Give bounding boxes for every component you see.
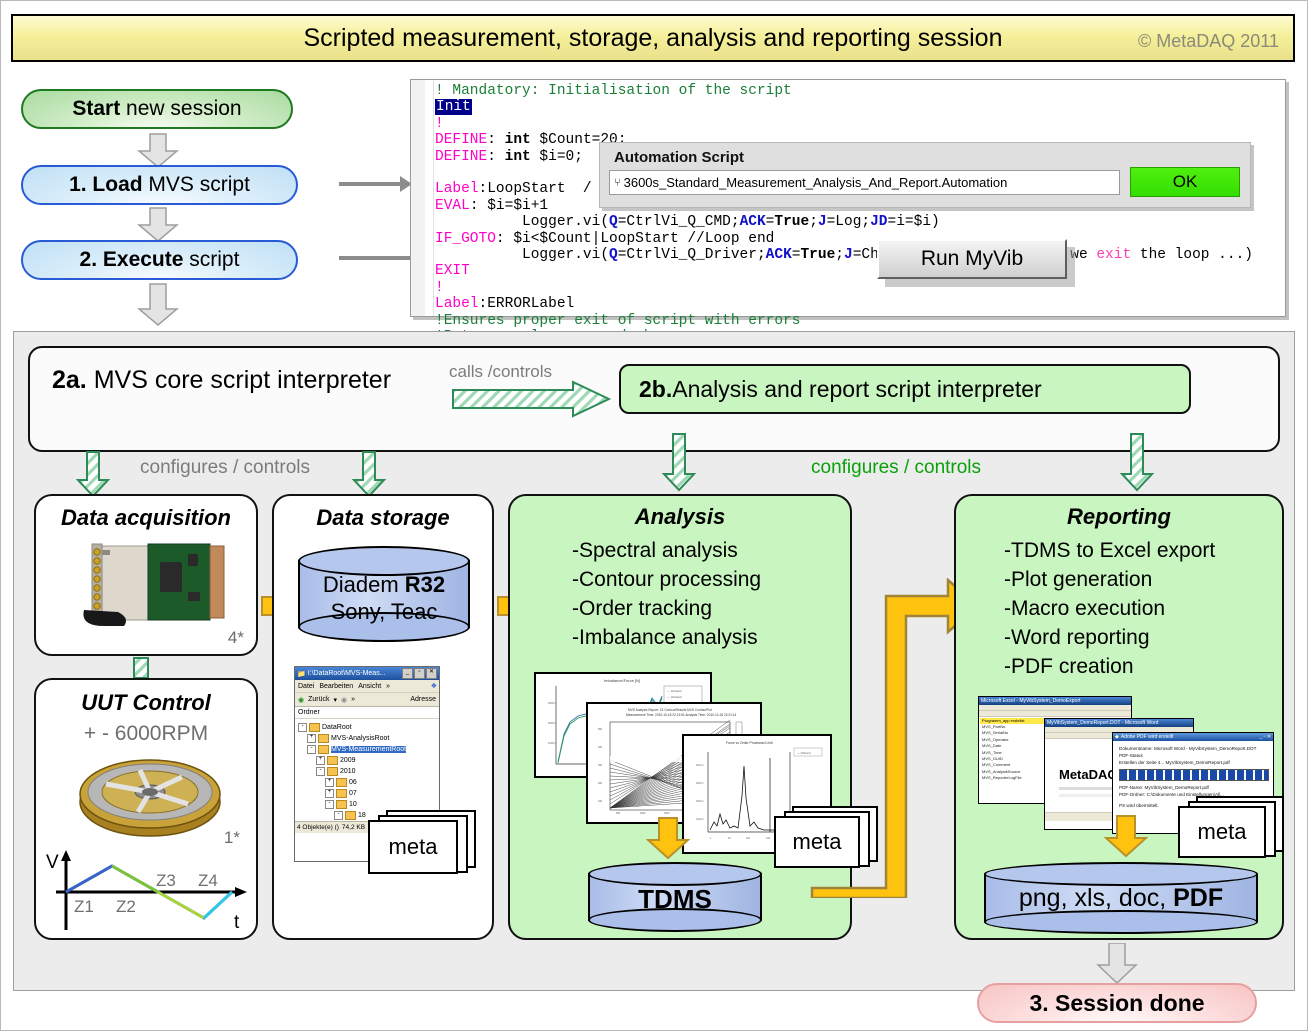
menu-ansicht[interactable]: Ansicht	[358, 683, 381, 690]
svg-text:Measurement Time: 2010-10-18 2: Measurement Time: 2010-10-18 22:13:51 An…	[626, 713, 737, 717]
svg-text:2000,0: 2000,0	[696, 800, 704, 803]
menu-overflow[interactable]: »	[386, 683, 390, 690]
tree-item-label: 10	[349, 801, 357, 808]
excel-title-text: Microsoft Excel - MyVibSystem_DemoExport	[981, 698, 1080, 704]
folder-icon	[318, 745, 329, 754]
folder-icon	[336, 800, 347, 809]
svg-text:Z3: Z3	[156, 871, 176, 890]
tdms-cylinder: TDMS	[588, 862, 762, 934]
tree-item-label: 18	[358, 812, 366, 819]
toolbar-overflow[interactable]: »	[351, 696, 355, 703]
tree-item[interactable]: +07	[298, 788, 439, 799]
explorer-titlebar: 📁 I:\DataRoot\MVS-Meas... _ ▫ ✕	[295, 667, 439, 680]
folder-icon	[336, 778, 347, 787]
storage-cylinder: Diadem R32 Sony, Teac	[298, 546, 470, 644]
svg-text:150: 150	[766, 837, 771, 840]
dialog-ok-button[interactable]: OK	[1130, 167, 1240, 197]
svg-text:100: 100	[598, 800, 603, 803]
uut-control-card[interactable]: UUT Control + - 6000RPM 1*	[34, 678, 258, 940]
meta-page-front: meta	[1178, 806, 1266, 858]
maximize-icon[interactable]: ▫	[414, 668, 425, 679]
calls-controls-label: calls /controls	[449, 362, 552, 382]
arrow-step1-to-step2	[137, 207, 179, 243]
automation-script-input[interactable]: ⑂ 3600s_Standard_Measurement_Analysis_An…	[609, 170, 1120, 195]
arrow-analysis-to-tdms	[646, 816, 690, 865]
daq-board-image	[78, 540, 228, 633]
arrow-calls-controls	[451, 380, 611, 423]
flow-step1-node[interactable]: 1. Load MVS script	[21, 165, 298, 205]
collapse-icon[interactable]: -	[316, 767, 325, 776]
core-interpreter-text: MVS core script interpreter	[87, 366, 391, 394]
folder-icon	[336, 789, 347, 798]
svg-text:200: 200	[598, 782, 603, 785]
svg-text:1500: 1500	[664, 812, 670, 815]
reporting-bullet-2: -Macro execution	[1004, 594, 1215, 623]
pdf-title-text: Adobe PDF wird erstellt	[1121, 734, 1174, 740]
analysis-interpreter-num: 2b.	[639, 376, 672, 403]
tree-item-label: 2009	[340, 757, 356, 764]
output-formats-label: png, xls, doc, PDF	[984, 884, 1258, 913]
windows-flag-icon: ❖	[431, 682, 437, 690]
flow-start-bold: Start	[72, 97, 120, 120]
word-titlebar: MyVibSystem_DemoReport.DOT - Microsoft W…	[1045, 719, 1193, 727]
menu-datei[interactable]: Datei	[298, 683, 314, 690]
tree-item[interactable]: -MVS-MeasurementRoot	[298, 744, 439, 755]
tree-item-label: DataRoot	[322, 724, 352, 731]
expand-icon[interactable]: +	[325, 778, 334, 787]
analysis-bullet-1: -Contour processing	[572, 565, 761, 594]
expand-icon[interactable]: +	[325, 789, 334, 798]
flow-step1-rest: MVS script	[143, 173, 250, 196]
svg-text:500: 500	[616, 812, 621, 815]
tree-item[interactable]: -2010	[298, 766, 439, 777]
arrow-tdms-to-reporting	[800, 578, 980, 903]
folder-icon	[318, 734, 329, 743]
tree-item-label: 07	[349, 790, 357, 797]
svg-text:300: 300	[598, 764, 603, 767]
back-icon[interactable]: ◉	[298, 696, 304, 704]
explorer-folder-icon: 📁	[297, 670, 306, 678]
flow-step2-bold: 2. Execute	[80, 248, 184, 271]
svg-text:1000,0: 1000,0	[696, 818, 704, 821]
svg-text:MVS Analysis Report: Z1 Contou: MVS Analysis Report: Z1 ContourResults M…	[628, 708, 712, 712]
pdf-window-buttons: _ ▫ ✕	[1259, 734, 1273, 740]
explorer-menubar[interactable]: Datei Bearbeiten Ansicht » ❖	[295, 680, 439, 693]
collapse-icon[interactable]: -	[325, 800, 334, 809]
pdf-titlebar: ◆ Adobe PDF wird erstellt _ ▫ ✕	[1113, 733, 1273, 741]
connector-step1-line	[339, 182, 401, 186]
word-title-text: MyVibSystem_DemoReport.DOT - Microsoft W…	[1047, 720, 1158, 726]
svg-text:3000,0: 3000,0	[548, 701, 556, 705]
forward-icon[interactable]: ◉	[341, 696, 347, 704]
toolbar-back-label[interactable]: Zurück	[308, 696, 329, 703]
explorer-pane-header: Ordner	[295, 707, 439, 719]
svg-text:V: V	[46, 852, 59, 873]
tree-item[interactable]: -DataRoot	[298, 722, 439, 733]
data-acquisition-card[interactable]: Data acquisition 4*	[34, 494, 258, 656]
minimize-icon[interactable]: _	[402, 668, 413, 679]
configures-controls-left-label: configures / controls	[140, 457, 310, 479]
analysis-interpreter-card[interactable]: 2b. Analysis and report script interpret…	[619, 364, 1191, 414]
svg-text:t: t	[234, 912, 240, 933]
tdms-label: TDMS	[588, 884, 762, 915]
storage-meta-stack: meta	[368, 810, 476, 872]
title-banner: Scripted measurement, storage, analysis …	[11, 14, 1295, 62]
tree-item-label: 2010	[340, 768, 356, 775]
tree-item-label: MVS-MeasurementRoot	[331, 746, 406, 753]
svg-text:500: 500	[598, 728, 603, 731]
storage-db-line1: Diadem R32	[298, 572, 470, 598]
reporting-bullets: -TDMS to Excel export -Plot generation -…	[1004, 536, 1215, 681]
pdf-progress-bar	[1119, 769, 1269, 781]
automation-script-value: 3600s_Standard_Measurement_Analysis_And_…	[624, 175, 1008, 190]
collapse-icon[interactable]: -	[307, 745, 316, 754]
analysis-bullet-3: -Imbalance analysis	[572, 623, 761, 652]
svg-text:2000,0: 2000,0	[548, 721, 556, 725]
arrow-config-reporting	[1120, 432, 1154, 497]
arrow-to-session-done	[1096, 943, 1138, 985]
storage-db-name: Diadem	[323, 572, 405, 597]
tree-item[interactable]: -10	[298, 799, 439, 810]
reporting-card[interactable]: Reporting -TDMS to Excel export -Plot ge…	[954, 494, 1284, 940]
uut-vt-chart: V t Z1 Z2 Z3 Z4	[42, 848, 254, 941]
storage-db-version: R32	[405, 572, 445, 597]
arrow-config-analysis	[662, 432, 696, 497]
svg-text:Force vs Order Processed Unit: Force vs Order Processed Unit	[726, 741, 773, 745]
word-heading: MetaDAQ	[1059, 767, 1118, 782]
status-size: 74,2 KB	[342, 824, 365, 831]
reporting-bullet-4: -PDF creation	[1004, 652, 1215, 681]
tdms-cylinder-top	[588, 862, 762, 886]
run-myvib-button[interactable]: Run MyVib	[877, 239, 1067, 279]
uut-rpm-label: + - 6000RPM	[36, 722, 256, 746]
analysis-title: Analysis	[510, 504, 850, 530]
collapse-icon[interactable]: -	[334, 811, 343, 820]
data-storage-card[interactable]: Data storage Diadem R32 Sony, Teac 📁 I:\…	[272, 494, 494, 940]
folder-icon	[345, 811, 356, 820]
output-cylinder-top	[984, 862, 1258, 886]
analysis-bullet-0: -Spectral analysis	[572, 536, 761, 565]
analysis-interpreter-text: Analysis and report script interpreter	[672, 376, 1041, 403]
uut-control-title: UUT Control	[36, 690, 256, 716]
svg-text:Z1: Z1	[74, 897, 94, 916]
core-interpreter-label: 2a. MVS core script interpreter	[52, 366, 391, 395]
flow-step2-rest: script	[183, 248, 239, 271]
svg-text:Imbalance/Force [N]: Imbalance/Force [N]	[604, 678, 640, 683]
svg-text:Z2: Z2	[116, 897, 136, 916]
folder-icon	[309, 723, 320, 732]
svg-text:Z4: Z4	[198, 871, 218, 890]
explorer-folder-tree[interactable]: -DataRoot+MVS-AnalysisRoot-MVS-Measureme…	[295, 719, 439, 821]
expand-icon[interactable]: +	[307, 734, 316, 743]
flow-session-done-node[interactable]: 3. Session done	[977, 983, 1257, 1023]
script-file-icon: ⑂	[614, 177, 621, 189]
flow-step2-node[interactable]: 2. Execute script	[21, 240, 298, 280]
tree-item[interactable]: +06	[298, 777, 439, 788]
session-done-label: 3. Session done	[1029, 990, 1204, 1017]
tree-item-label: MVS-AnalysisRoot	[331, 735, 389, 742]
address-label[interactable]: Adresse	[410, 696, 436, 703]
output-cylinder-bottom	[984, 910, 1258, 934]
pdf-row-2: Erstellen der Seite 4... MyVibSystem_Dem…	[1119, 759, 1269, 766]
tree-item[interactable]: +MVS-AnalysisRoot	[298, 733, 439, 744]
automation-script-dialog[interactable]: Automation Script ⑂ 3600s_Standard_Measu…	[599, 142, 1251, 208]
analysis-bullets: -Spectral analysis -Contour processing -…	[572, 536, 761, 652]
explorer-window-buttons[interactable]: _ ▫ ✕	[402, 668, 439, 679]
back-dropdown-icon[interactable]: ▾	[334, 696, 338, 704]
reporting-meta-stack: meta	[1178, 796, 1282, 858]
svg-text:3000,0: 3000,0	[696, 782, 704, 785]
flow-start-node[interactable]: Start new session	[21, 89, 293, 129]
daq-footnote: 4*	[228, 628, 244, 648]
data-acquisition-title: Data acquisition	[36, 505, 256, 531]
adobe-icon: ◆	[1115, 734, 1119, 740]
flywheel-image	[76, 750, 224, 847]
editor-gutter-secondary	[425, 80, 434, 316]
status-object-count: 4 Objekte(e) ()	[297, 824, 339, 831]
configures-controls-right-label: configures / controls	[811, 457, 981, 479]
svg-text:— Ordner1: — Ordner1	[667, 689, 682, 693]
collapse-icon[interactable]: -	[298, 723, 307, 732]
analysis-bullet-2: -Order tracking	[572, 594, 761, 623]
arrow-start-to-step1	[137, 133, 179, 169]
editor-gutter	[411, 80, 426, 316]
svg-text:100: 100	[746, 837, 751, 840]
flow-start-rest: new session	[120, 97, 241, 120]
explorer-title-text: I:\DataRoot\MVS-Meas...	[308, 670, 386, 677]
svg-text:1000,0: 1000,0	[548, 741, 556, 745]
menu-bearbeiten[interactable]: Bearbeiten	[319, 683, 353, 690]
tree-item-label: 06	[349, 779, 357, 786]
core-interpreter-num: 2a.	[52, 366, 87, 394]
reporting-bullet-0: -TDMS to Excel export	[1004, 536, 1215, 565]
folder-icon	[327, 756, 338, 765]
svg-text:400: 400	[598, 746, 603, 749]
architecture-container: 2a. MVS core script interpreter calls /c…	[13, 331, 1295, 991]
reporting-bullet-3: -Word reporting	[1004, 623, 1215, 652]
uut-footnote: 1*	[224, 828, 240, 848]
page-title: Scripted measurement, storage, analysis …	[13, 16, 1293, 60]
expand-icon[interactable]: +	[316, 756, 325, 765]
storage-db-line2: Sony, Teac	[298, 599, 470, 625]
pdf-row-3: PDF-Name: MyVibSystem_DemoReport.pdf	[1119, 784, 1269, 791]
diagram-root: Scripted measurement, storage, analysis …	[0, 0, 1308, 1031]
reporting-bullet-1: -Plot generation	[1004, 565, 1215, 594]
tree-item[interactable]: +2009	[298, 755, 439, 766]
data-storage-title: Data storage	[274, 505, 492, 531]
output-formats-b: PDF	[1173, 884, 1223, 912]
flow-step1-bold: 1. Load	[69, 173, 143, 196]
close-icon[interactable]: ✕	[426, 668, 437, 679]
pdf-row-0: Dokumentname: Microsoft Word - MyVibSyst…	[1119, 745, 1269, 752]
reporting-title: Reporting	[956, 504, 1282, 530]
excel-titlebar: Microsoft Excel - MyVibSystem_DemoExport	[979, 697, 1131, 705]
svg-text:4000,0: 4000,0	[696, 764, 704, 767]
output-cylinder: png, xls, doc, PDF	[984, 862, 1258, 936]
script-code-text[interactable]: ! Mandatory: Initialisation of the scrip…	[435, 83, 1253, 362]
pdf-row-1: PDF-Status	[1119, 752, 1269, 759]
explorer-toolbar[interactable]: ◉ Zurück ▾ ◉ » Adresse	[295, 693, 439, 707]
copyright-label: © MetaDAQ 2011	[1138, 31, 1279, 52]
svg-text:1000: 1000	[640, 812, 646, 815]
folder-icon	[327, 767, 338, 776]
arrow-reporting-to-output	[1104, 814, 1148, 863]
arrow-step2-to-core	[137, 283, 179, 327]
svg-text:— Ordner2: — Ordner2	[667, 695, 682, 699]
meta-page-front: meta	[368, 820, 458, 874]
output-formats-a: png, xls, doc,	[1019, 884, 1173, 912]
dialog-title: Automation Script	[614, 149, 744, 166]
